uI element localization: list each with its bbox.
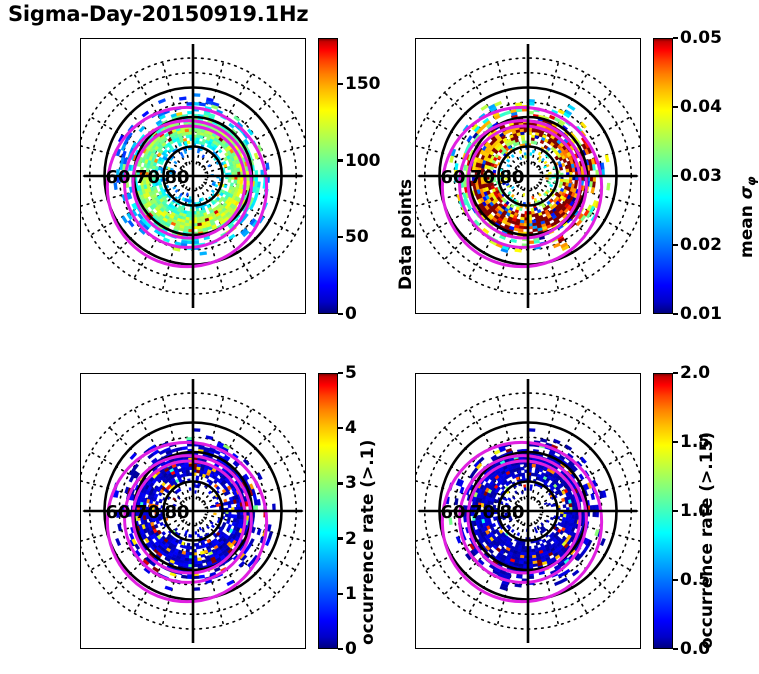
svg-text:80: 80 [165, 167, 190, 188]
colorbar-top-left[interactable]: 0 50 100 150 Data points [318, 38, 338, 314]
cb-tick-label: 3 [345, 473, 357, 493]
panel-top-left[interactable]: 607080 [80, 38, 306, 314]
cb-tick-label: 0 [345, 304, 357, 324]
cb-tick-label: 0 [345, 639, 357, 659]
colorbar-title: occurrence rate (>.15) [697, 432, 717, 649]
colorbar-title: occurrence rate (>.1) [358, 440, 378, 645]
polar-plot-occurrence-rate-01: 607080 [80, 373, 306, 649]
polar-plot-data-points: 607080 [80, 38, 306, 314]
cb-tick-label: 0.02 [680, 235, 722, 255]
cb-tick-label: 0.01 [680, 304, 722, 324]
svg-text:60: 60 [441, 167, 466, 188]
polar-plot-occurrence-rate-015: 607080 [415, 373, 641, 649]
polar-plot-mean-sigma-phi: 607080 [415, 38, 641, 314]
cb-tick-label: 5 [345, 363, 357, 383]
svg-text:70: 70 [470, 167, 495, 188]
colorbar-gradient [318, 38, 338, 314]
panel-top-right[interactable]: 607080 [415, 38, 641, 314]
colorbar-gradient [653, 38, 673, 314]
page-title: Sigma-Day-20150919.1Hz [8, 2, 308, 26]
cb-tick-label: 0.04 [680, 97, 722, 117]
colorbar-title: mean σφ [737, 176, 758, 258]
figure-canvas: Sigma-Day-20150919.1Hz 607080 0 50 100 1… [0, 0, 759, 674]
cb-tick-label: 2.0 [680, 363, 710, 383]
panel-bottom-right[interactable]: 607080 [415, 373, 641, 649]
sigma-symbol: σ [737, 186, 757, 199]
phi-subscript: φ [744, 176, 758, 186]
svg-text:70: 70 [135, 502, 160, 523]
colorbar-title-prefix: mean [737, 199, 757, 258]
svg-text:60: 60 [106, 167, 131, 188]
svg-text:80: 80 [500, 502, 525, 523]
svg-text:80: 80 [165, 502, 190, 523]
cb-tick-label: 0.03 [680, 166, 722, 186]
cb-tick-label: 150 [345, 74, 381, 94]
colorbar-title: Data points [396, 179, 416, 290]
svg-text:60: 60 [441, 502, 466, 523]
cb-tick-label: 1 [345, 584, 357, 604]
cb-tick-label: 50 [345, 227, 369, 247]
cb-tick-label: 4 [345, 418, 357, 438]
cb-tick-label: 0.05 [680, 28, 722, 48]
colorbar-top-right[interactable]: 0.01 0.02 0.03 0.04 0.05 mean σφ [653, 38, 673, 314]
panel-bottom-left[interactable]: 607080 [80, 373, 306, 649]
colorbar-gradient [653, 373, 673, 649]
svg-text:70: 70 [135, 167, 160, 188]
cb-tick-label: 100 [345, 151, 381, 171]
colorbar-gradient [318, 373, 338, 649]
cb-tick-label: 2 [345, 529, 357, 549]
svg-text:80: 80 [500, 167, 525, 188]
colorbar-bottom-left[interactable]: 0 1 2 3 4 5 occurrence rate (>.1) [318, 373, 338, 649]
colorbar-bottom-right[interactable]: 0.0 0.5 1.0 1.5 2.0 occurrence rate (>.1… [653, 373, 673, 649]
svg-text:60: 60 [106, 502, 131, 523]
svg-text:70: 70 [470, 502, 495, 523]
